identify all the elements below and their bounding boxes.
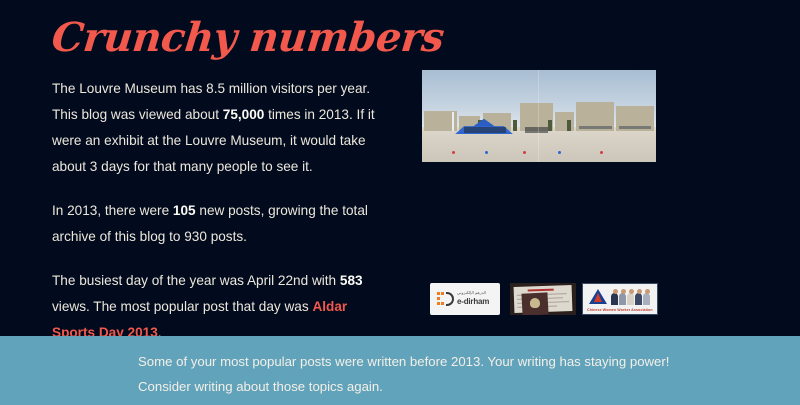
- stats-text-column: The Louvre Museum has 8.5 million visito…: [52, 76, 382, 346]
- e-dirham-label: e-dirham: [457, 297, 489, 306]
- photo-palm-tree: [513, 120, 517, 131]
- paragraph-posts-part1: In 2013, there were: [52, 203, 173, 218]
- association-group-photo: [611, 288, 653, 305]
- e-dirham-icon: [437, 292, 453, 306]
- hero-photo[interactable]: [422, 70, 656, 162]
- association-name-label: Chinese Women Worker Association: [587, 308, 655, 312]
- footer-tip-text: Some of your most popular posts were wri…: [138, 349, 698, 399]
- footer-tip-band: Some of your most popular posts were wri…: [0, 336, 800, 405]
- passport-booklet: [521, 292, 548, 315]
- photo-building-windows: [579, 126, 612, 129]
- photo-ground-marker: [485, 151, 488, 154]
- photo-panorama-seam: [538, 70, 539, 162]
- thumbnail-row: الدرهم الإلكتروني e-dirham: [430, 283, 658, 315]
- paragraph-busiest-day: The busiest day of the year was April 22…: [52, 268, 382, 346]
- paragraph-busiest-part2: views. The most popular post that day wa…: [52, 299, 312, 314]
- photo-ground-marker: [523, 151, 526, 154]
- e-dirham-arabic-label: الدرهم الإلكتروني: [457, 290, 486, 295]
- thumbnail-passport-document[interactable]: [510, 283, 576, 315]
- thumbnail-association-logo[interactable]: Chinese Women Worker Association: [582, 283, 658, 315]
- paragraph-busiest-part1: The busiest day of the year was April 22…: [52, 273, 340, 288]
- new-posts-count: 105: [173, 203, 196, 218]
- passport-crest: [530, 298, 541, 309]
- photo-ground-marker: [600, 151, 603, 154]
- photo-crowd: [525, 127, 548, 133]
- photo-building: [555, 112, 574, 130]
- views-count: 75,000: [223, 107, 265, 122]
- photo-palm-tree: [548, 120, 552, 131]
- photo-ground-marker: [558, 151, 561, 154]
- document-red-heading: [528, 289, 554, 292]
- photo-crowd: [464, 127, 506, 133]
- page-title: Crunchy numbers: [50, 16, 446, 60]
- footer-tip-line1: Some of your most popular posts were wri…: [138, 354, 669, 369]
- thumbnail-e-dirham[interactable]: الدرهم الإلكتروني e-dirham: [430, 283, 500, 315]
- photo-flag: [452, 112, 454, 130]
- paragraph-posts: In 2013, there were 105 new posts, growi…: [52, 198, 382, 250]
- photo-palm-tree: [567, 120, 571, 131]
- paragraph-visitors: The Louvre Museum has 8.5 million visito…: [52, 76, 382, 180]
- crunchy-numbers-section: Crunchy numbers The Louvre Museum has 8.…: [0, 0, 800, 405]
- footer-tip-line2: Consider writing about those topics agai…: [138, 379, 383, 394]
- busiest-day-views: 583: [340, 273, 363, 288]
- photo-building-windows: [619, 126, 652, 129]
